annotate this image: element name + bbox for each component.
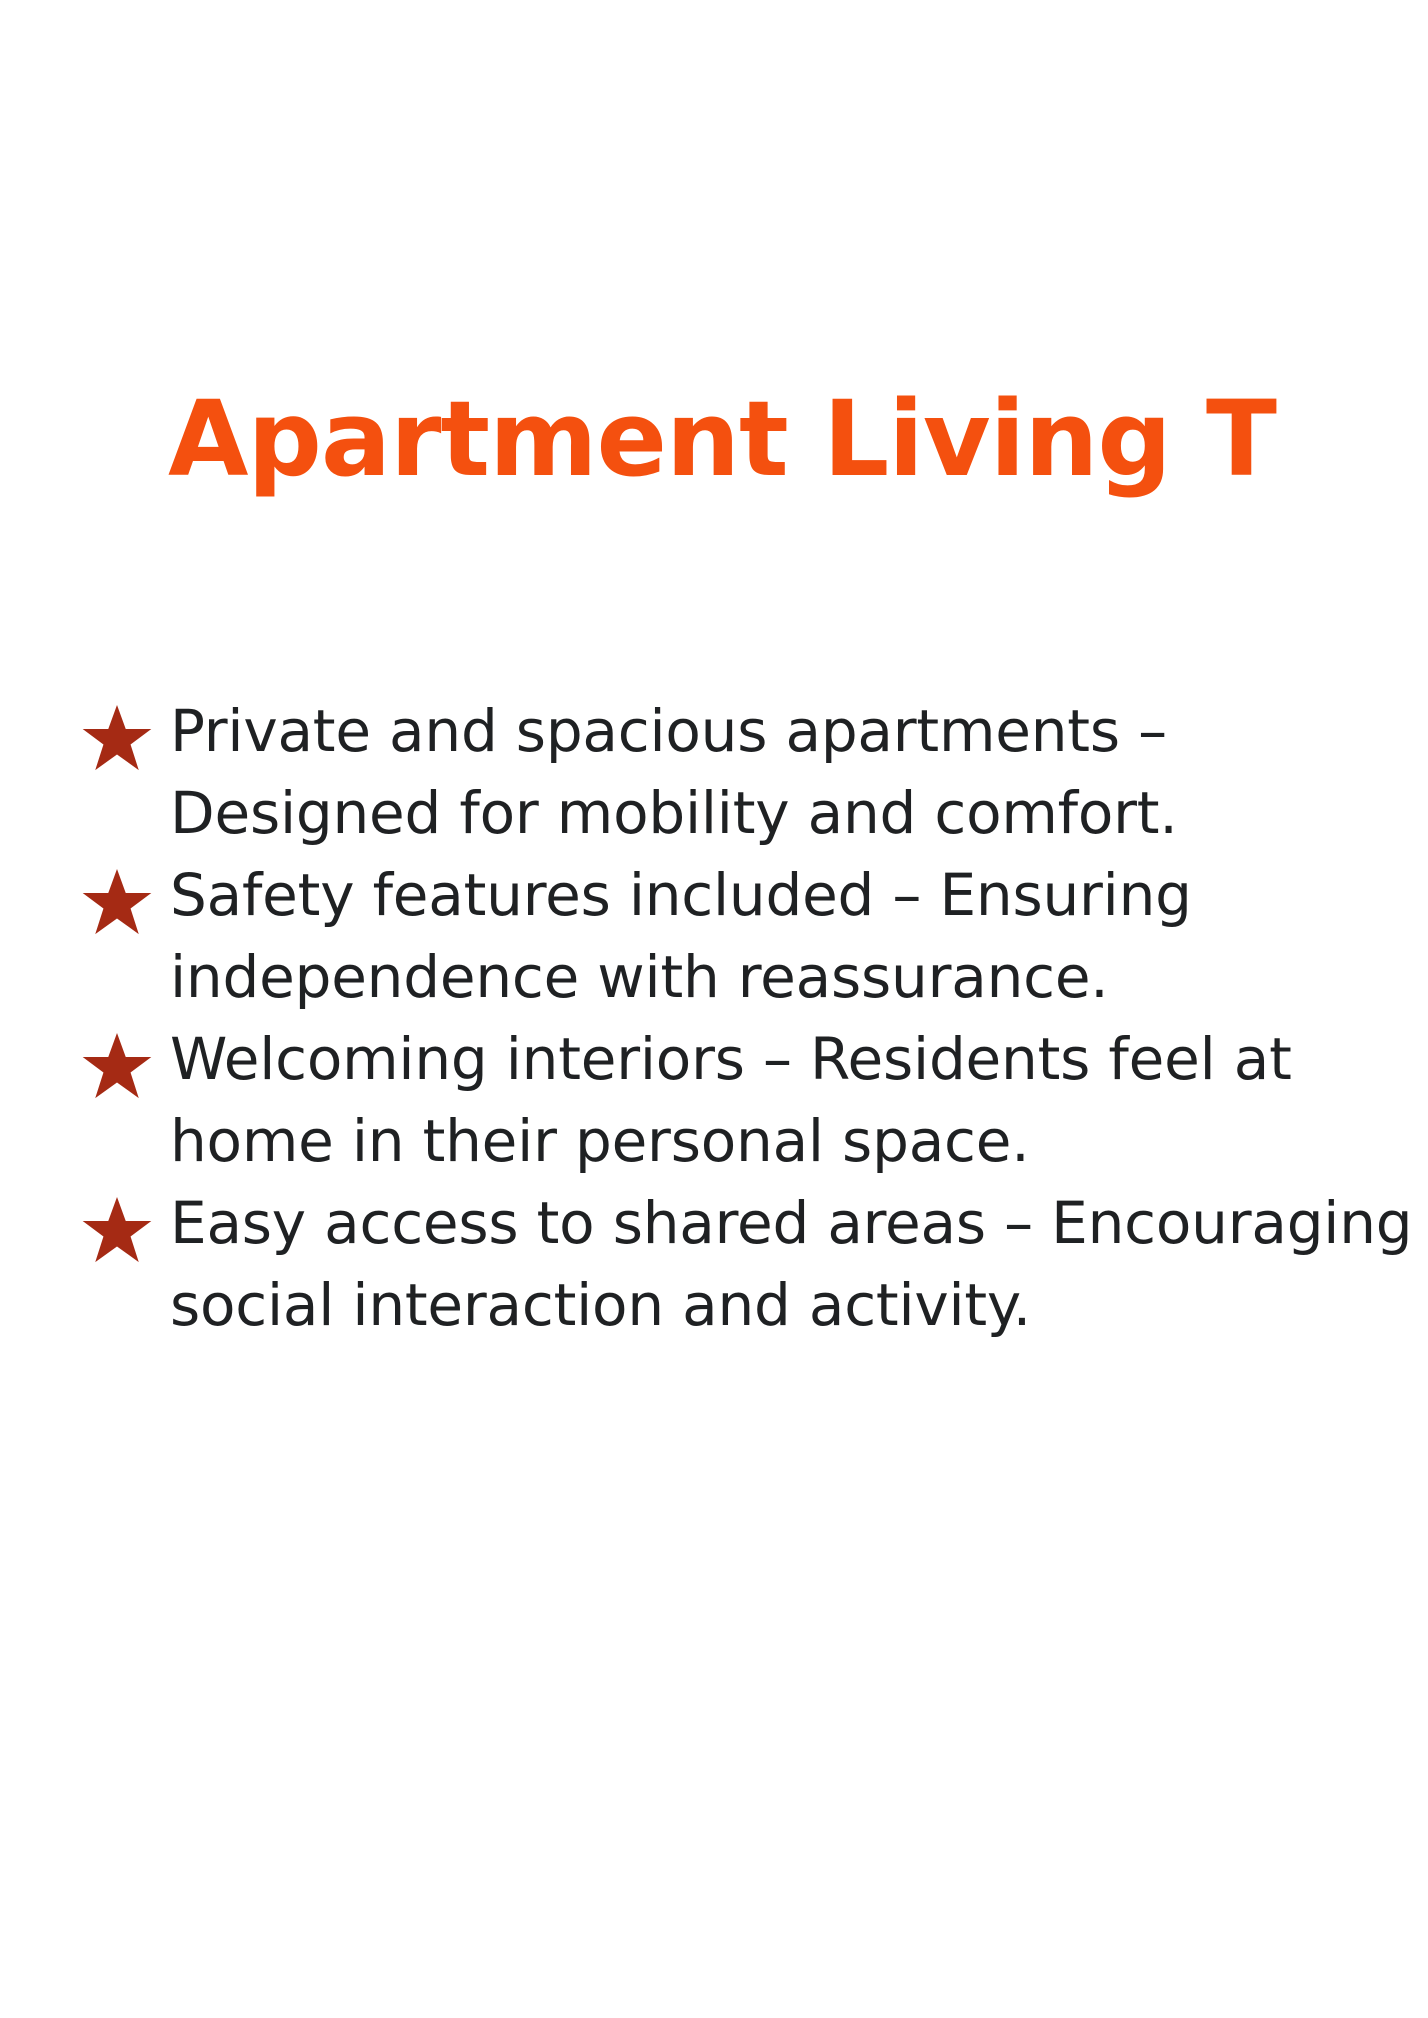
list-item: Safety features included – Ensuring inde… bbox=[78, 854, 1428, 1018]
star-icon bbox=[80, 702, 154, 776]
list-item: Welcoming interiors – Residents feel at … bbox=[78, 1018, 1428, 1182]
list-item-line: home in their personal space. bbox=[170, 1100, 1428, 1182]
list-item-line: Private and spacious apartments – bbox=[170, 690, 1428, 772]
page-title: Apartment Living T bbox=[168, 382, 1276, 496]
list-item-line: Safety features included – Ensuring bbox=[170, 854, 1428, 936]
list-item-line: social interaction and activity. bbox=[170, 1264, 1428, 1346]
bullet-list: Private and spacious apartments – Design… bbox=[78, 690, 1428, 1346]
star-icon bbox=[80, 1030, 154, 1104]
list-item: Private and spacious apartments – Design… bbox=[78, 690, 1428, 854]
list-item-line: Welcoming interiors – Residents feel at bbox=[170, 1018, 1428, 1100]
list-item-line: independence with reassurance. bbox=[170, 936, 1428, 1018]
list-item-line: Easy access to shared areas – Encouragin… bbox=[170, 1182, 1428, 1264]
star-icon bbox=[80, 866, 154, 940]
list-item: Easy access to shared areas – Encouragin… bbox=[78, 1182, 1428, 1346]
list-item-line: Designed for mobility and comfort. bbox=[170, 772, 1428, 854]
slide-canvas: Apartment Living T Private and spacious … bbox=[0, 0, 1428, 2018]
star-icon bbox=[80, 1194, 154, 1268]
